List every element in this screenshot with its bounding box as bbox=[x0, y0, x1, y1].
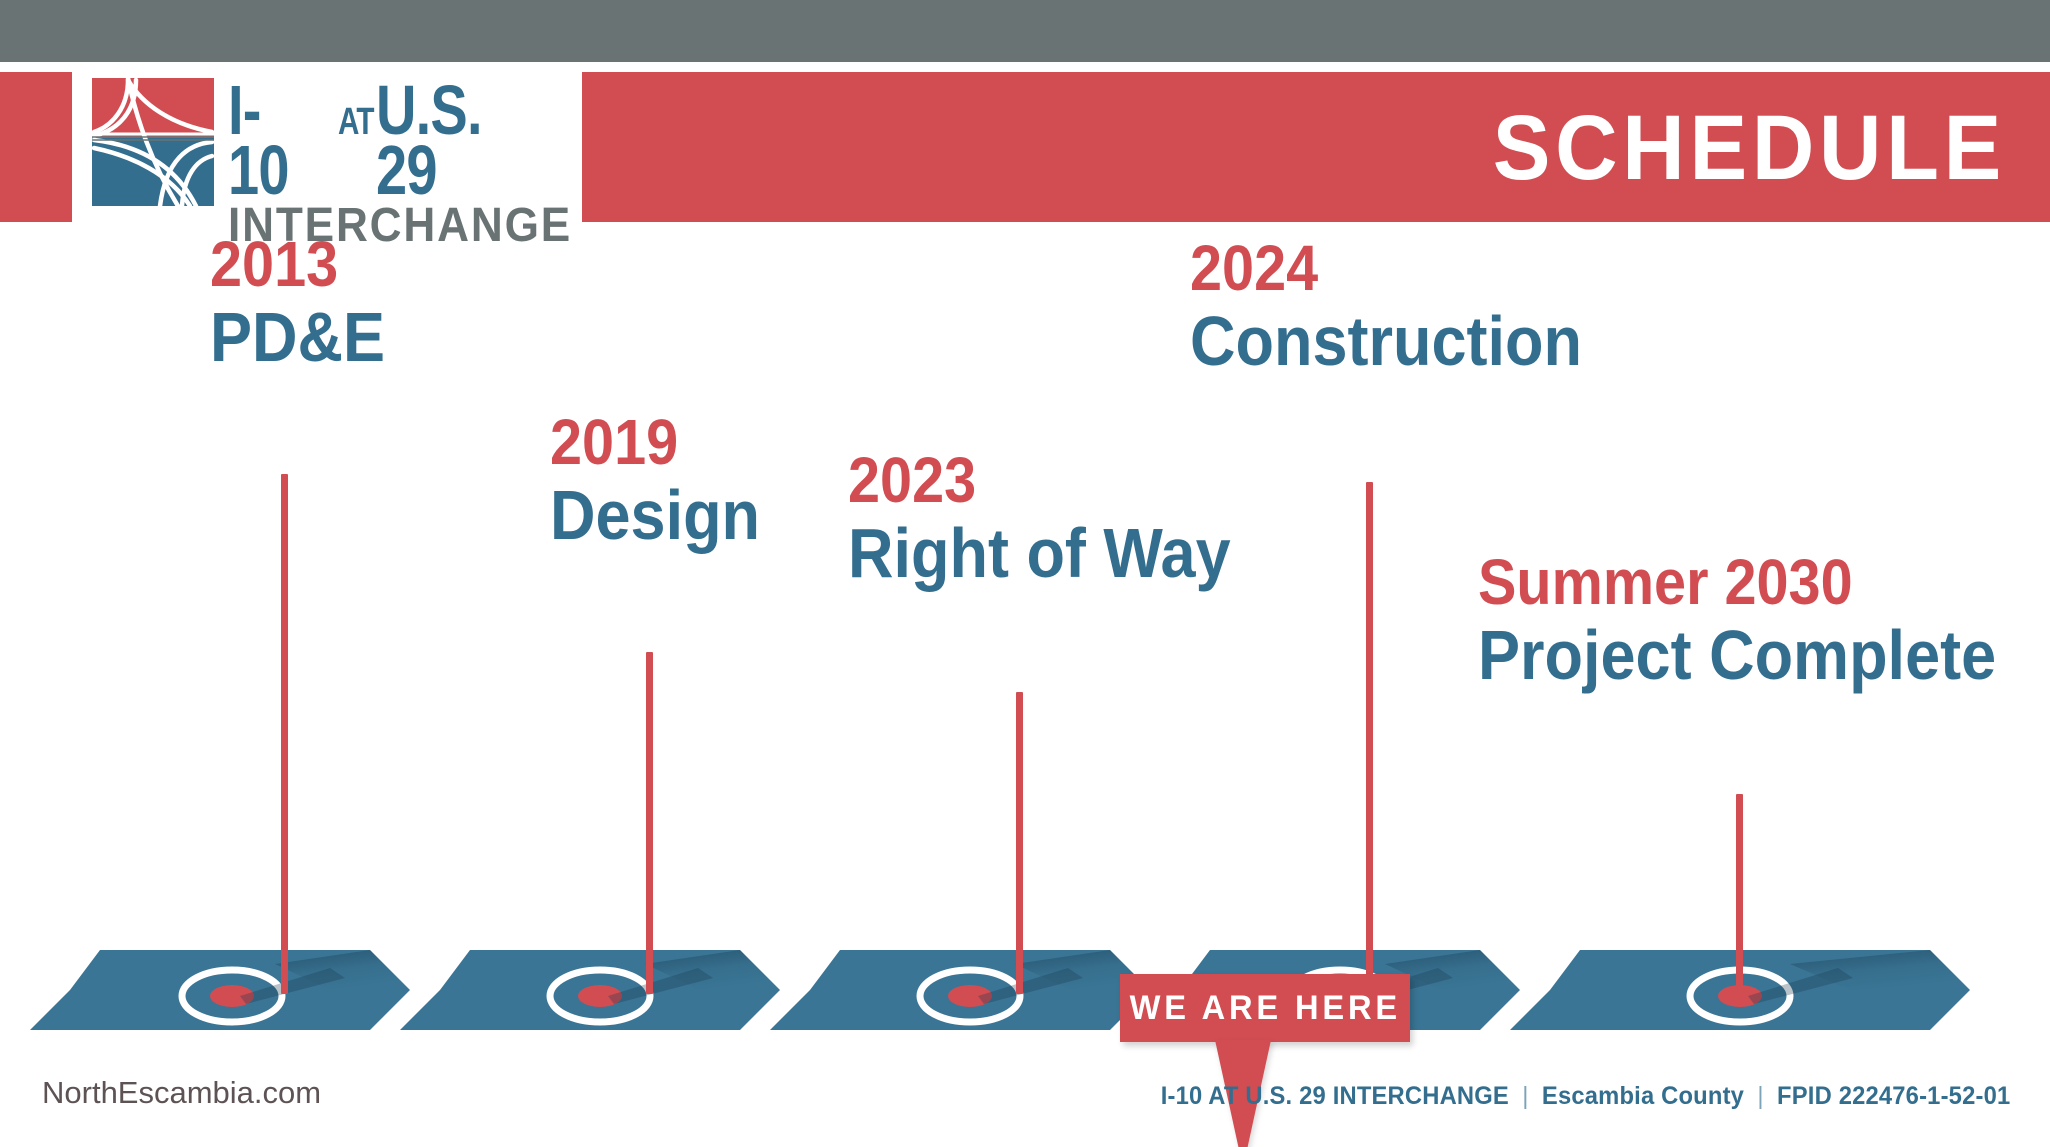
logo-at-text: AT bbox=[338, 106, 374, 139]
milestone-stalk-2019 bbox=[646, 652, 653, 994]
we-are-here-label: WE ARE HERE bbox=[1129, 989, 1400, 1028]
milestone-phase-2013: PD&E bbox=[210, 302, 385, 372]
milestone-stalk-2013 bbox=[281, 474, 288, 994]
interchange-bridge-mark-icon bbox=[92, 78, 214, 206]
milestone-stalk-2024 bbox=[1366, 482, 1373, 994]
milestone-year-2030: Summer 2030 bbox=[1478, 550, 1996, 614]
page-title: SCHEDULE bbox=[1493, 78, 2006, 218]
project-logo: I-10 AT U.S. 29 INTERCHANGE bbox=[92, 78, 572, 216]
footer-project-name: I-10 AT U.S. 29 INTERCHANGE bbox=[1160, 1082, 1508, 1111]
milestone-phase-2023: Right of Way bbox=[848, 518, 1231, 588]
top-gray-stripe bbox=[0, 0, 2050, 62]
we-are-here-box: WE ARE HERE bbox=[1120, 974, 1410, 1042]
footer-source-credit: NorthEscambia.com bbox=[42, 1075, 321, 1111]
milestone-label-2013: 2013 PD&E bbox=[210, 232, 404, 372]
milestone-label-2023: 2023 Right of Way bbox=[848, 448, 1273, 588]
logo-us29-text: U.S. 29 bbox=[376, 80, 557, 200]
footer-separator-2: | bbox=[1757, 1082, 1763, 1111]
footer-project-info: I-10 AT U.S. 29 INTERCHANGE | Escambia C… bbox=[1160, 1082, 2010, 1111]
milestone-label-2030: Summer 2030 Project Complete bbox=[1478, 550, 2050, 690]
milestone-year-2024: 2024 bbox=[1190, 236, 1582, 300]
milestone-phase-2030: Project Complete bbox=[1478, 620, 1996, 690]
milestone-phase-2024: Construction bbox=[1190, 306, 1582, 376]
footer-fpid: FPID 222476-1-52-01 bbox=[1777, 1082, 2010, 1111]
milestone-stalk-2030 bbox=[1736, 794, 1743, 994]
milestone-stalk-2023 bbox=[1016, 692, 1023, 994]
timeline: 2013 PD&E 2019 Design 2023 Right of Way … bbox=[0, 222, 2050, 1052]
we-are-here-marker[interactable]: WE ARE HERE bbox=[1120, 974, 1420, 1147]
milestone-phase-2019: Design bbox=[550, 480, 760, 550]
milestone-label-2019: 2019 Design bbox=[550, 410, 783, 550]
milestone-label-2024: 2024 Construction bbox=[1190, 236, 1626, 376]
footer-county: Escambia County bbox=[1542, 1082, 1744, 1111]
milestone-year-2013: 2013 bbox=[210, 232, 385, 296]
logo-i10-text: I-10 bbox=[228, 80, 321, 200]
logo-line-one: I-10 AT U.S. 29 bbox=[228, 80, 602, 200]
footer-separator-1: | bbox=[1522, 1082, 1528, 1111]
milestone-year-2023: 2023 bbox=[848, 448, 1231, 512]
schedule-board: I-10 AT U.S. 29 INTERCHANGE SCHEDULE bbox=[0, 0, 2050, 1147]
milestone-year-2019: 2019 bbox=[550, 410, 760, 474]
